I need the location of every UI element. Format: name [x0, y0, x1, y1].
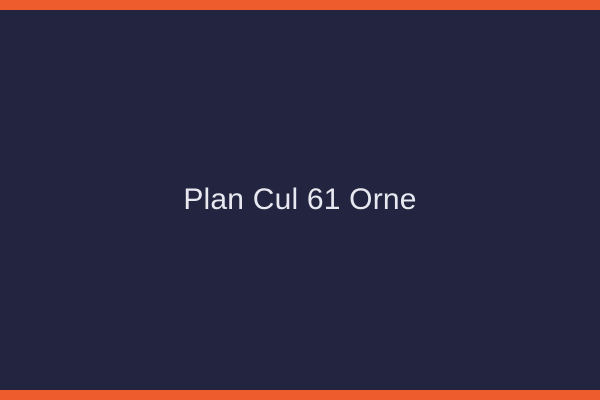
banner-title: Plan Cul 61 Orne [183, 182, 416, 218]
banner-content-area: Plan Cul 61 Orne [0, 10, 600, 390]
top-accent-bar [0, 0, 600, 10]
bottom-accent-bar [0, 390, 600, 400]
banner-card: Plan Cul 61 Orne [0, 0, 600, 400]
